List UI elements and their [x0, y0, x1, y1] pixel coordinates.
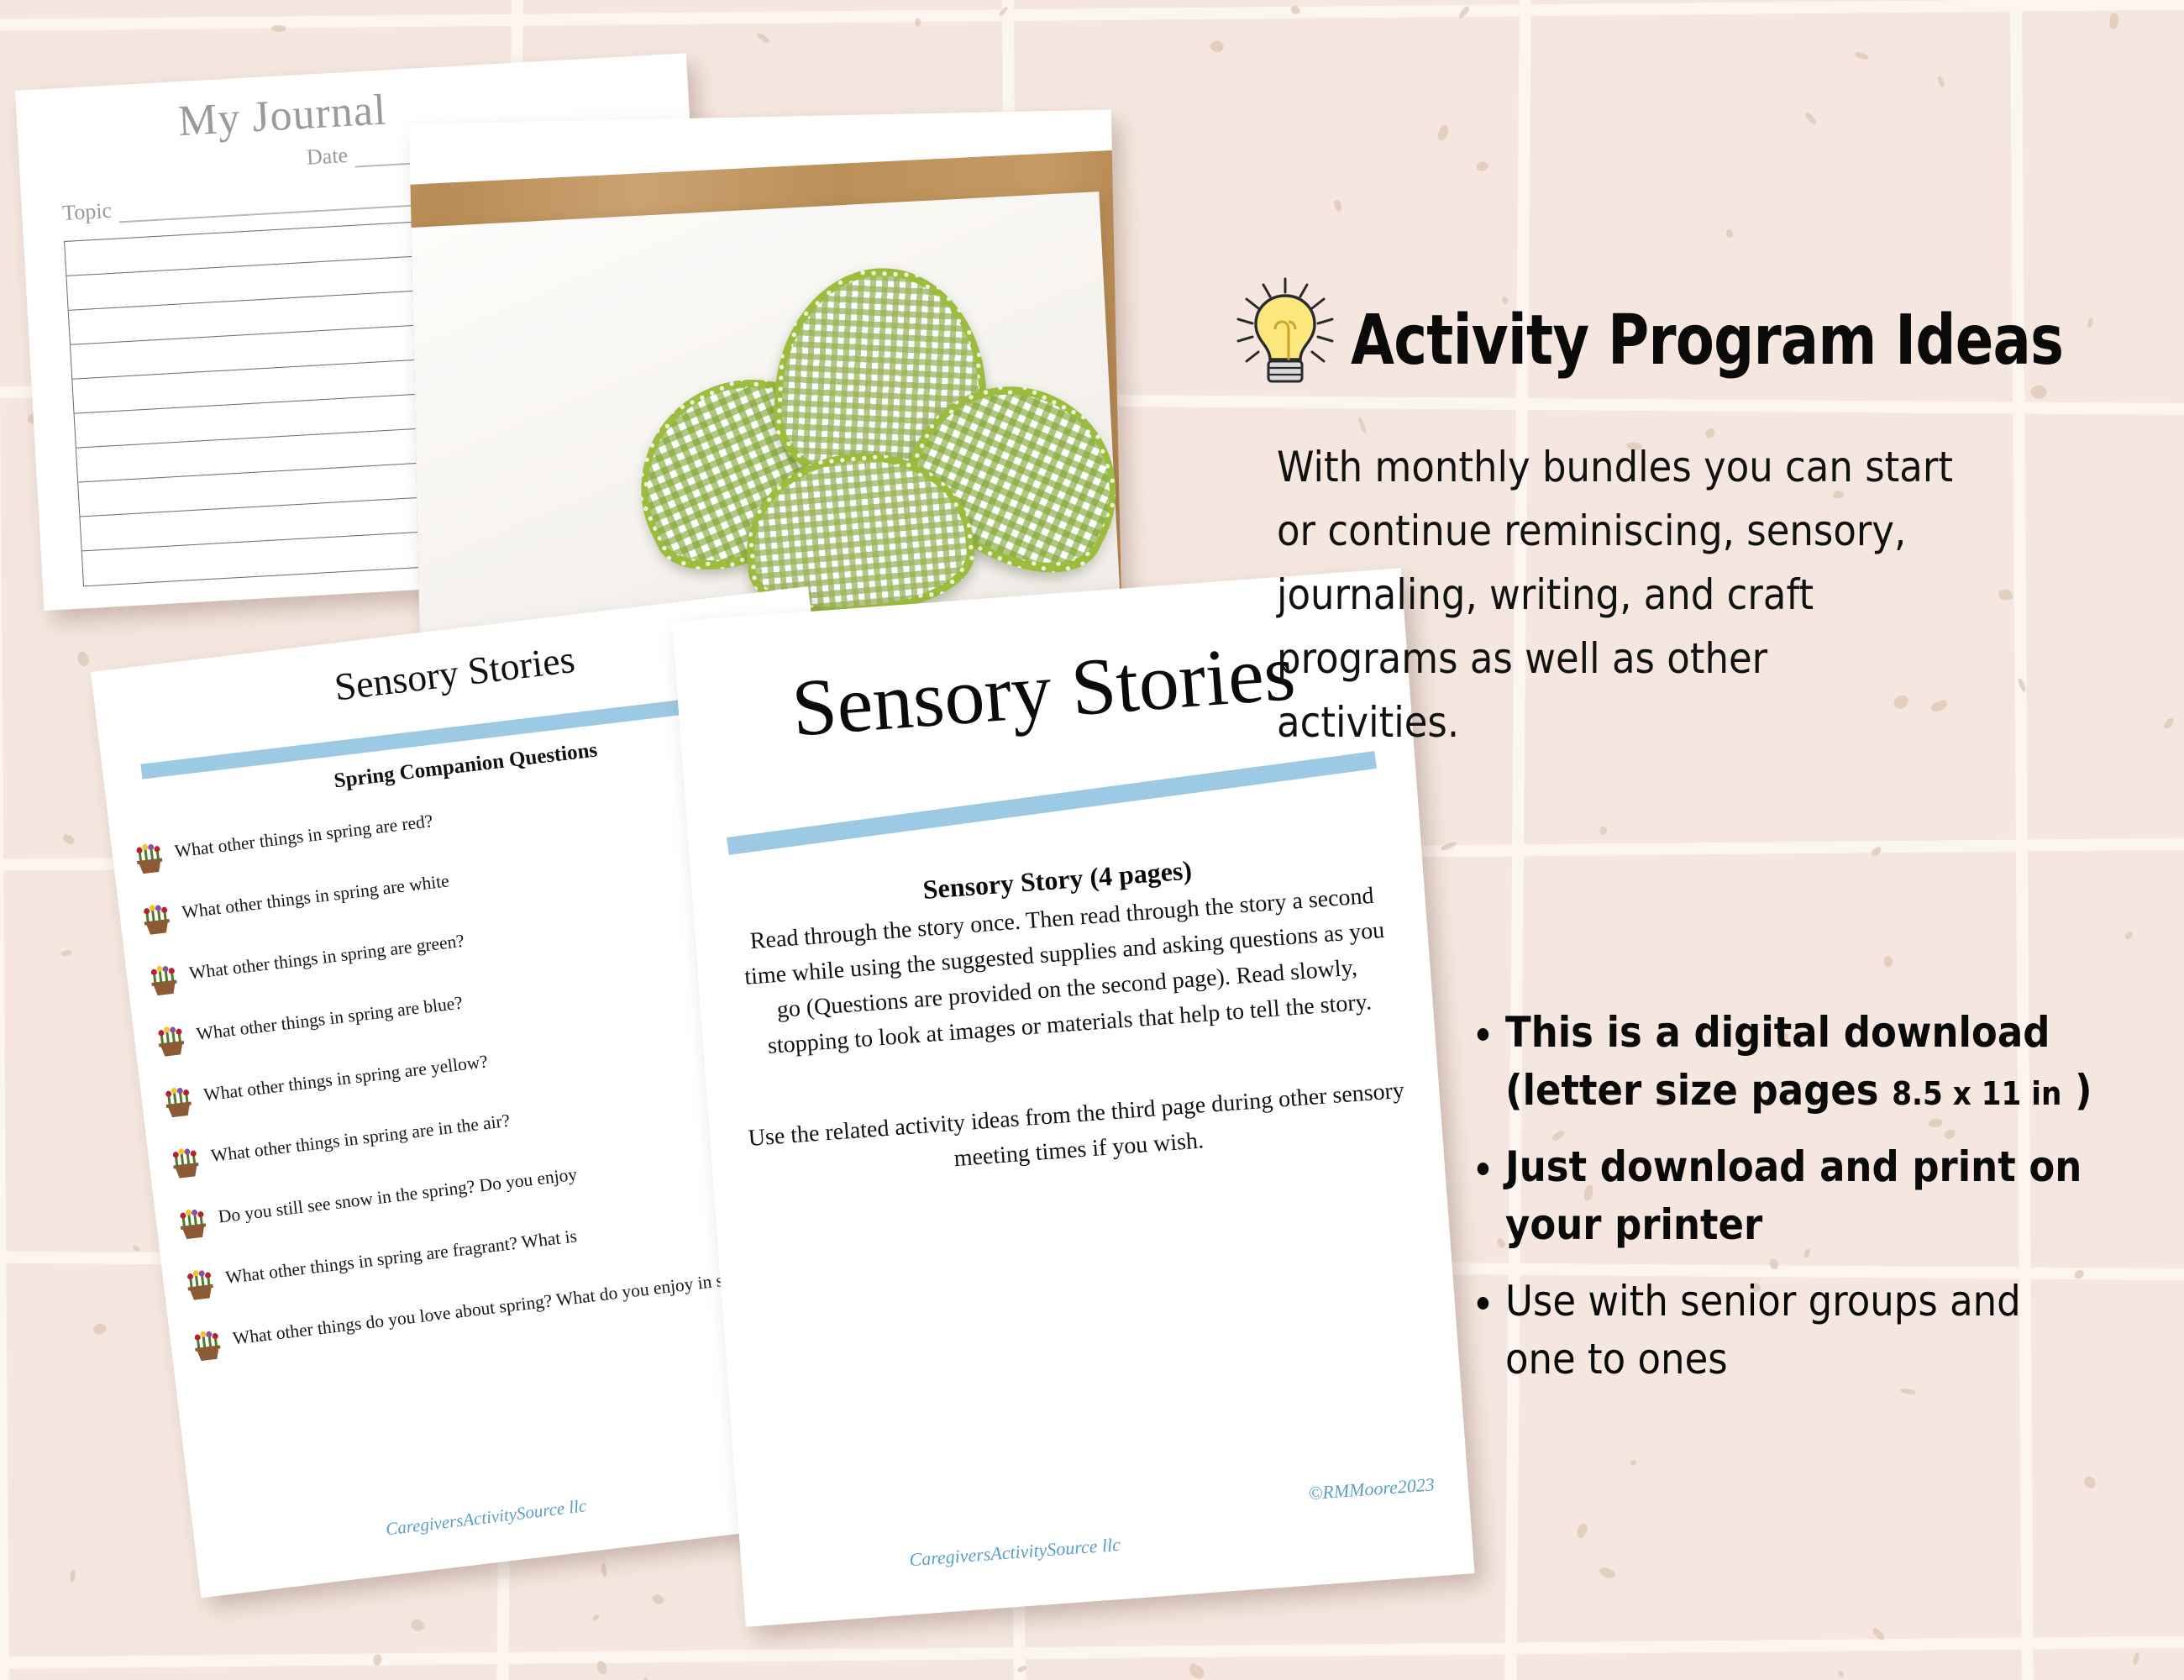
lightbulb-icon [1235, 277, 1336, 403]
front-blue-rule [727, 751, 1377, 855]
flower-pot-icon [170, 1147, 202, 1179]
background-fleck [651, 1592, 665, 1606]
background-fleck [1937, 76, 1945, 88]
flower-pot-icon [192, 1330, 223, 1362]
background-fleck [271, 24, 286, 34]
list-item-label: What other things in spring are in the a… [209, 1105, 512, 1173]
feature-bullet: This is a digital download (letter size … [1505, 1004, 2093, 1120]
page-title: Activity Program Ideas [1351, 301, 2063, 381]
flower-pot-icon [162, 1086, 194, 1118]
background-fleck [60, 948, 72, 957]
feature-bullet-text: Just download and print on your printer [1505, 1142, 2082, 1249]
background-fleck [2082, 1474, 2097, 1488]
list-item-label: What other things in spring are blue? [195, 987, 465, 1050]
intro-paragraph: With monthly bundles you can start or co… [1277, 435, 1957, 754]
background-fleck [1803, 112, 1818, 125]
page-size-note: 8.5 x 11 in [1892, 1075, 2061, 1112]
background-fleck [1334, 200, 1342, 213]
background-fleck [2108, 12, 2121, 29]
background-fleck [1839, 1671, 1844, 1677]
background-fleck [1574, 1522, 1590, 1539]
flower-pot-icon [184, 1269, 216, 1301]
front-paragraph-2: Use the related activity ideas from the … [743, 1073, 1413, 1192]
grid-line-vertical [0, 0, 9, 1680]
grid-line-horizontal [0, 0, 2184, 31]
list-item-label: Do you still see snow in the spring? Do … [217, 1159, 579, 1233]
feature-bullet: Just download and print on your printer [1505, 1138, 2093, 1254]
background-fleck [62, 833, 76, 845]
grid-line-vertical [1504, 0, 1531, 1680]
background-fleck [2124, 930, 2134, 940]
background-fleck [1436, 123, 1451, 142]
feature-bullet-text: Use with senior groups and one to ones [1505, 1277, 2021, 1383]
flower-pot-icon [134, 843, 165, 874]
background-fleck [1209, 39, 1226, 55]
feature-bullet-tail: ) [2061, 1066, 2092, 1115]
background-fleck [1854, 51, 1868, 59]
background-fleck [591, 1614, 600, 1621]
list-item-label: What other things in spring are red? [173, 806, 435, 868]
front-footer-left: CaregiversActivitySource llc [909, 1534, 1121, 1571]
flower-pot-icon [148, 964, 180, 996]
background-fleck [601, 1562, 608, 1577]
front-footer-copyright: ©RMMoore2023 [1308, 1473, 1436, 1504]
list-item-label: What other things in spring are yellow? [202, 1046, 489, 1111]
background-fleck [92, 1320, 108, 1336]
list-item-label: What other things in spring are white [181, 865, 451, 928]
background-fleck [1882, 954, 1895, 968]
background-fleck [1187, 1662, 1206, 1680]
list-item-label: What other things in spring are fragrant… [223, 1221, 579, 1294]
journal-date-label: Date [306, 143, 349, 171]
background-fleck [409, 1616, 426, 1633]
background-fleck [1598, 1566, 1616, 1582]
spring-page-footer: CaregiversActivitySource llc [385, 1495, 588, 1540]
right-info-panel: Activity Program Ideas With monthly bund… [1235, 277, 2167, 754]
background-fleck [132, 1245, 141, 1252]
flower-pot-icon [155, 1026, 187, 1058]
background-fleck [1726, 229, 1733, 238]
grid-line-horizontal [0, 1635, 2184, 1669]
flower-pot-icon [177, 1208, 209, 1240]
background-fleck [1630, 1459, 1636, 1464]
feature-bullet: Use with senior groups and one to ones [1505, 1273, 2093, 1389]
background-fleck [1475, 159, 1489, 172]
background-fleck [2132, 1652, 2141, 1666]
feature-bullet-list: This is a digital download (letter size … [1462, 1004, 2159, 1407]
background-fleck [76, 650, 92, 668]
background-fleck [70, 1570, 76, 1583]
flower-pot-icon [141, 904, 173, 936]
list-item-label: What other things in spring are green? [187, 926, 466, 990]
background-fleck [1598, 825, 1609, 836]
heading-row: Activity Program Ideas [1235, 277, 2167, 403]
journal-topic-label: Topic [61, 198, 112, 226]
background-fleck [756, 31, 770, 45]
